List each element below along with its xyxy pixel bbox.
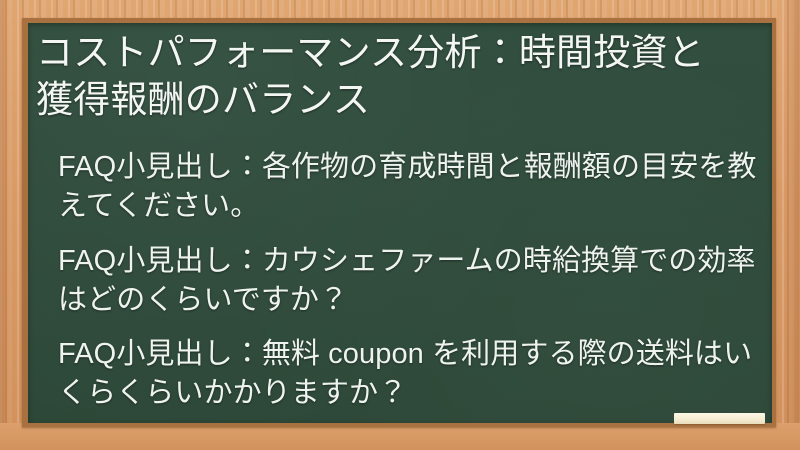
faq-list: FAQ小見出し：各作物の育成時間と報酬額の目安を教えてください。 FAQ小見出し…	[58, 148, 758, 413]
frame-shadow-right	[784, 0, 800, 450]
list-item: FAQ小見出し：各作物の育成時間と報酬額の目安を教えてください。	[58, 148, 758, 226]
chalk-stick-icon	[674, 413, 765, 424]
chalkboard-slide: コストパフォーマンス分析：時間投資と獲得報酬のバランス FAQ小見出し：各作物の…	[0, 0, 800, 450]
chalkboard: コストパフォーマンス分析：時間投資と獲得報酬のバランス FAQ小見出し：各作物の…	[28, 23, 772, 423]
list-item: FAQ小見出し：無料 coupon を利用する際の送料はいくらくらいかかりますか…	[58, 335, 758, 413]
list-item: FAQ小見出し：カウシェファームの時給換算での効率はどのくらいですか？	[58, 242, 758, 320]
frame-shadow-left	[0, 0, 9, 450]
chalk-ledge	[0, 423, 800, 450]
page-title: コストパフォーマンス分析：時間投資と獲得報酬のバランス	[36, 29, 742, 124]
